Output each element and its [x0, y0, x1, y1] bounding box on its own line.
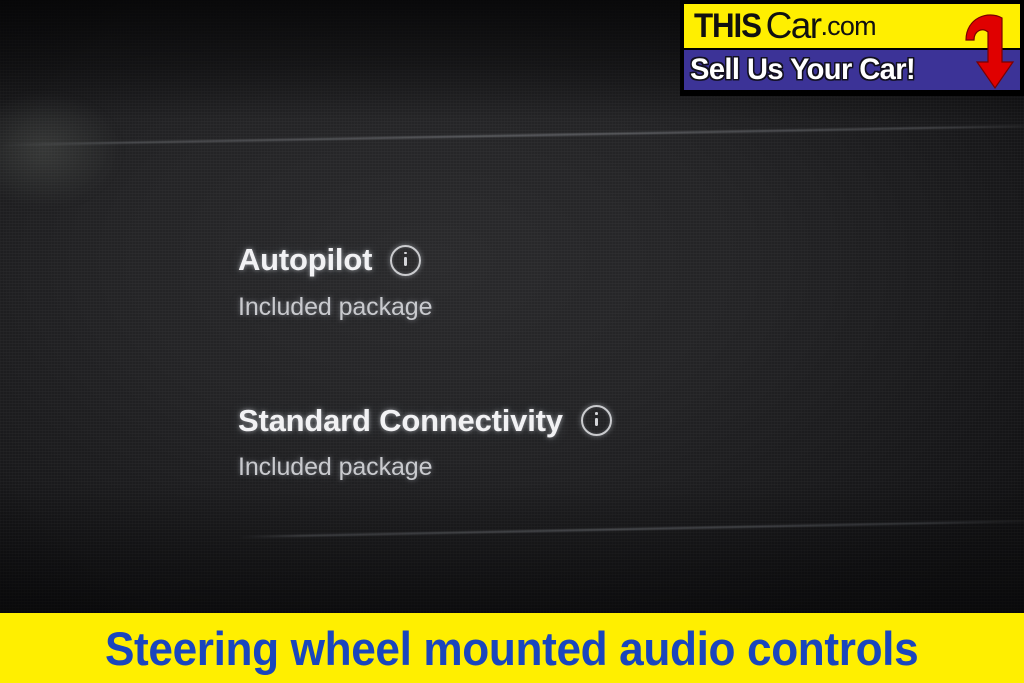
option-title-line: Autopilot: [238, 244, 938, 277]
watermark-brand-dotcom: .com: [820, 11, 875, 42]
option-title-line: Standard Connectivity: [238, 405, 938, 438]
watermark-here-label: HERE: [971, 20, 1024, 94]
watermark-here-box: HERE: [996, 12, 1018, 90]
screenshot-root: Autopilot Included package Standard Conn…: [0, 0, 1024, 683]
caption-bar: Steering wheel mounted audio controls: [0, 613, 1024, 683]
option-row-standard-connectivity[interactable]: Standard Connectivity Included package: [238, 405, 938, 483]
watermark-brand: THIS Car .com: [694, 4, 876, 48]
watermark-tagline: Sell Us Your Car!: [690, 50, 915, 90]
option-subtitle-standard-connectivity: Included package: [238, 453, 938, 482]
option-row-autopilot[interactable]: Autopilot Included package: [238, 244, 938, 322]
option-list: Autopilot Included package Standard Conn…: [238, 244, 938, 482]
option-subtitle-autopilot: Included package: [238, 293, 938, 322]
info-circle-icon-standard-connectivity[interactable]: [581, 405, 612, 436]
watermark-brand-car: Car: [766, 5, 821, 47]
watermark-logo[interactable]: THIS Car .com Sell Us Your Car! HERE: [680, 0, 1024, 96]
caption-text: Steering wheel mounted audio controls: [105, 625, 918, 672]
info-circle-icon-autopilot[interactable]: [390, 245, 421, 276]
option-title-autopilot: Autopilot: [238, 244, 372, 277]
option-title-standard-connectivity: Standard Connectivity: [238, 405, 563, 438]
watermark-brand-this: THIS: [694, 7, 761, 46]
